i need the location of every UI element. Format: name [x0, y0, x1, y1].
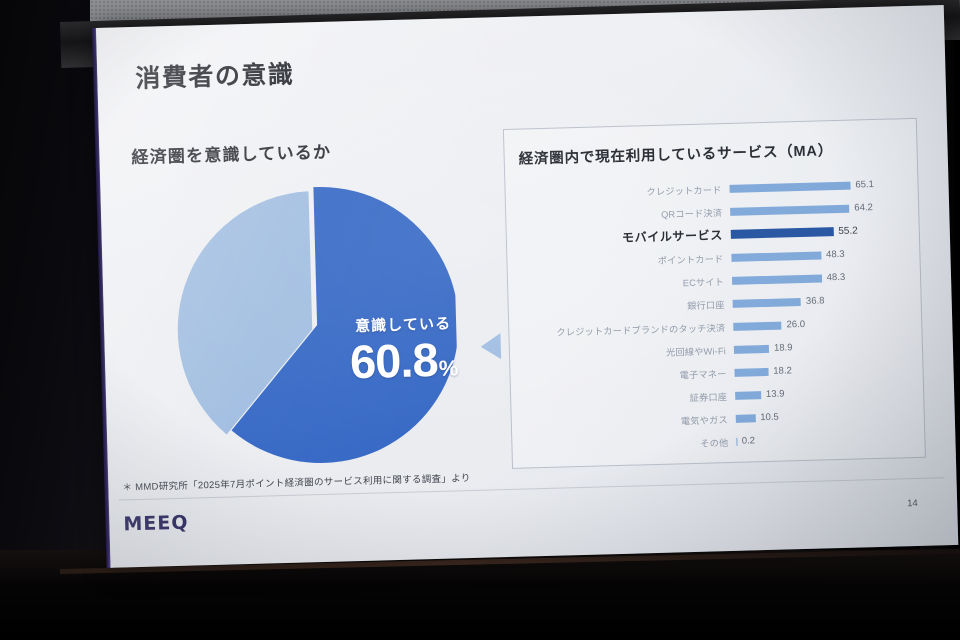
bar	[729, 181, 850, 192]
bar-label: 電子マネー	[520, 365, 734, 385]
bar-chart-title: 経済圏内で現在利用しているサービス（MA）	[518, 139, 833, 168]
page-title: 消費者の意識	[135, 55, 295, 95]
bar-track: 36.8	[732, 288, 911, 314]
pie-percentage: 60.8%	[328, 334, 479, 385]
bar-track: 64.2	[730, 196, 909, 222]
bar-label: ポイントカード	[517, 250, 731, 270]
bar-label: 銀行口座	[519, 296, 733, 316]
bar	[730, 204, 849, 215]
callout-arrow-icon	[480, 333, 501, 360]
bar	[735, 391, 761, 400]
source-footnote: ＊ MMD研究所「2025年7月ポイント経済圏のサービス利用に関する調査」より	[122, 470, 471, 493]
bar	[732, 274, 822, 284]
photo-scene: 消費者の意識 経済圏を意識しているか 意識している 60.8%	[0, 0, 960, 640]
bar	[733, 298, 802, 308]
page-number: 14	[907, 498, 918, 509]
bar-value: 18.9	[774, 342, 793, 353]
screen-surface: 消費者の意識 経済圏を意識しているか 意識している 60.8%	[96, 5, 958, 568]
bar-value: 65.1	[855, 179, 874, 190]
projection-screen: 消費者の意識 経済圏を意識しているか 意識している 60.8%	[96, 5, 958, 568]
pie-value-label: 意識している 60.8%	[328, 316, 480, 386]
presentation-slide: 消費者の意識 経済圏を意識しているか 意識している 60.8%	[96, 5, 958, 568]
bar	[736, 414, 756, 423]
bar-value: 18.2	[773, 365, 792, 376]
bar-track: 55.2	[731, 219, 910, 245]
bar-label: QRコード決済	[516, 204, 730, 224]
bar-value: 55.2	[838, 225, 858, 237]
bar-value: 26.0	[786, 319, 805, 330]
bar-label: その他	[522, 434, 736, 454]
bar-label: 証券口座	[521, 388, 735, 408]
bar-chart: クレジットカード65.1QRコード決済64.2モバイルサービス55.2ポイントカ…	[515, 173, 914, 460]
bar-track: 13.9	[735, 380, 914, 406]
bar-track: 26.0	[733, 311, 912, 337]
pie-percentage-unit: %	[438, 355, 458, 381]
bar-label: 電気やガス	[522, 411, 736, 431]
bar-track: 18.9	[734, 334, 913, 360]
pie-chart: 意識している 60.8%	[172, 178, 460, 467]
bar-label: クレジットカード	[515, 181, 729, 201]
bar-value: 36.8	[806, 295, 825, 306]
bar-track: 65.1	[729, 173, 908, 199]
bar-track: 18.2	[734, 357, 913, 383]
bar	[734, 367, 768, 376]
bar	[733, 321, 781, 330]
bar-label: ECサイト	[518, 273, 732, 293]
bar-value: 10.5	[760, 412, 779, 423]
bar-label: モバイルサービス	[517, 226, 731, 249]
bar-track: 0.2	[736, 426, 915, 452]
bar	[731, 227, 834, 239]
bar-track: 10.5	[736, 403, 915, 429]
bar-track: 48.3	[731, 242, 910, 268]
bar	[734, 344, 769, 353]
bar-value: 13.9	[766, 389, 785, 400]
bar	[736, 437, 737, 445]
pie-chart-heading: 経済圏を意識しているか	[131, 138, 331, 168]
bar-label: クレジットカードブランドのタッチ決済	[519, 319, 733, 339]
bar-value: 64.2	[854, 202, 873, 213]
services-panel: 経済圏内で現在利用しているサービス（MA） クレジットカード65.1QRコード決…	[503, 118, 926, 469]
bar-track: 48.3	[732, 265, 911, 291]
bar-value: 0.2	[742, 435, 756, 446]
meeq-logo: MEEQ	[123, 512, 189, 536]
pie-percentage-number: 60.8	[349, 332, 438, 387]
bar-label: 光回線やWi-Fi	[520, 342, 734, 362]
bar-value: 48.3	[826, 249, 845, 260]
bar	[731, 251, 821, 261]
bar-value: 48.3	[827, 272, 846, 283]
